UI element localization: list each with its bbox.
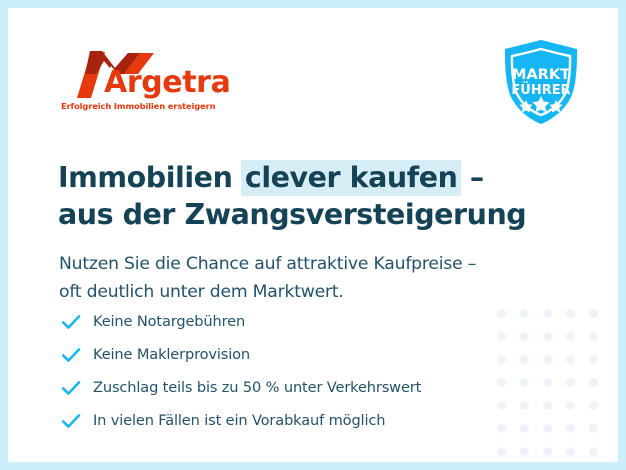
list-item: Zuschlag teils bis zu 50 % unter Verkehr…	[60, 371, 520, 404]
subheadline-line2: oft deutlich unter dem Marktwert.	[59, 278, 539, 306]
decorative-dot	[520, 355, 529, 364]
page-title: Immobilien clever kaufen – aus der Zwang…	[58, 159, 528, 233]
decorative-dot	[566, 378, 575, 387]
decorative-dot	[520, 332, 529, 341]
argetra-logo: Argetra Erfolgreich Immobilien ersteiger…	[58, 46, 208, 116]
decorative-dot	[566, 355, 575, 364]
decorative-dot	[543, 378, 552, 387]
list-item: In vielen Fällen ist ein Vorabkauf mögli…	[60, 404, 520, 437]
decorative-dot	[520, 401, 529, 410]
decorative-dot	[589, 424, 598, 433]
headline-line2: aus der Zwangsversteigerung	[58, 196, 528, 233]
decorative-dot	[589, 309, 598, 318]
badge-line1: MARKT	[512, 67, 570, 83]
list-item: Keine Maklerprovision	[60, 338, 520, 371]
list-item-label: Keine Notargebühren	[93, 313, 245, 330]
decorative-dot	[566, 309, 575, 318]
market-leader-badge: MARKT FÜHRER	[499, 38, 583, 126]
check-icon	[60, 311, 82, 333]
decorative-dot	[589, 447, 598, 456]
logo-wordmark: Argetra	[104, 68, 230, 98]
decorative-dot	[543, 447, 552, 456]
decorative-dot	[543, 401, 552, 410]
decorative-dot	[520, 424, 529, 433]
decorative-dot	[566, 332, 575, 341]
badge-line2: FÜHRER	[511, 82, 570, 98]
decorative-dot	[566, 447, 575, 456]
decorative-dot	[589, 378, 598, 387]
list-item-label: Zuschlag teils bis zu 50 % unter Verkehr…	[93, 379, 421, 396]
decorative-dot	[589, 332, 598, 341]
list-item-label: In vielen Fällen ist ein Vorabkauf mögli…	[93, 412, 385, 429]
decorative-dot	[566, 424, 575, 433]
decorative-dot	[520, 309, 529, 318]
check-icon	[60, 410, 82, 432]
decorative-dot	[520, 447, 529, 456]
check-icon	[60, 344, 82, 366]
subheadline: Nutzen Sie die Chance auf attraktive Kau…	[59, 250, 539, 306]
decorative-dot	[589, 401, 598, 410]
decorative-dot	[566, 401, 575, 410]
decorative-dot	[497, 447, 506, 456]
decorative-dot	[543, 332, 552, 341]
decorative-dot	[543, 355, 552, 364]
decorative-dot	[520, 378, 529, 387]
subheadline-line1: Nutzen Sie die Chance auf attraktive Kau…	[59, 254, 476, 274]
decorative-dot	[543, 309, 552, 318]
headline-highlight: clever kaufen	[241, 160, 462, 196]
benefits-checklist: Keine NotargebührenKeine Maklerprovision…	[60, 305, 520, 437]
headline-line1-before: Immobilien	[58, 161, 242, 194]
list-item: Keine Notargebühren	[60, 305, 520, 338]
promo-card: Argetra Erfolgreich Immobilien ersteiger…	[8, 8, 618, 462]
decorative-dot	[589, 355, 598, 364]
logo-tagline: Erfolgreich Immobilien ersteigern	[61, 101, 215, 111]
headline-line1-after: –	[460, 161, 483, 194]
list-item-label: Keine Maklerprovision	[93, 346, 250, 363]
decorative-dot	[543, 424, 552, 433]
check-icon	[60, 377, 82, 399]
